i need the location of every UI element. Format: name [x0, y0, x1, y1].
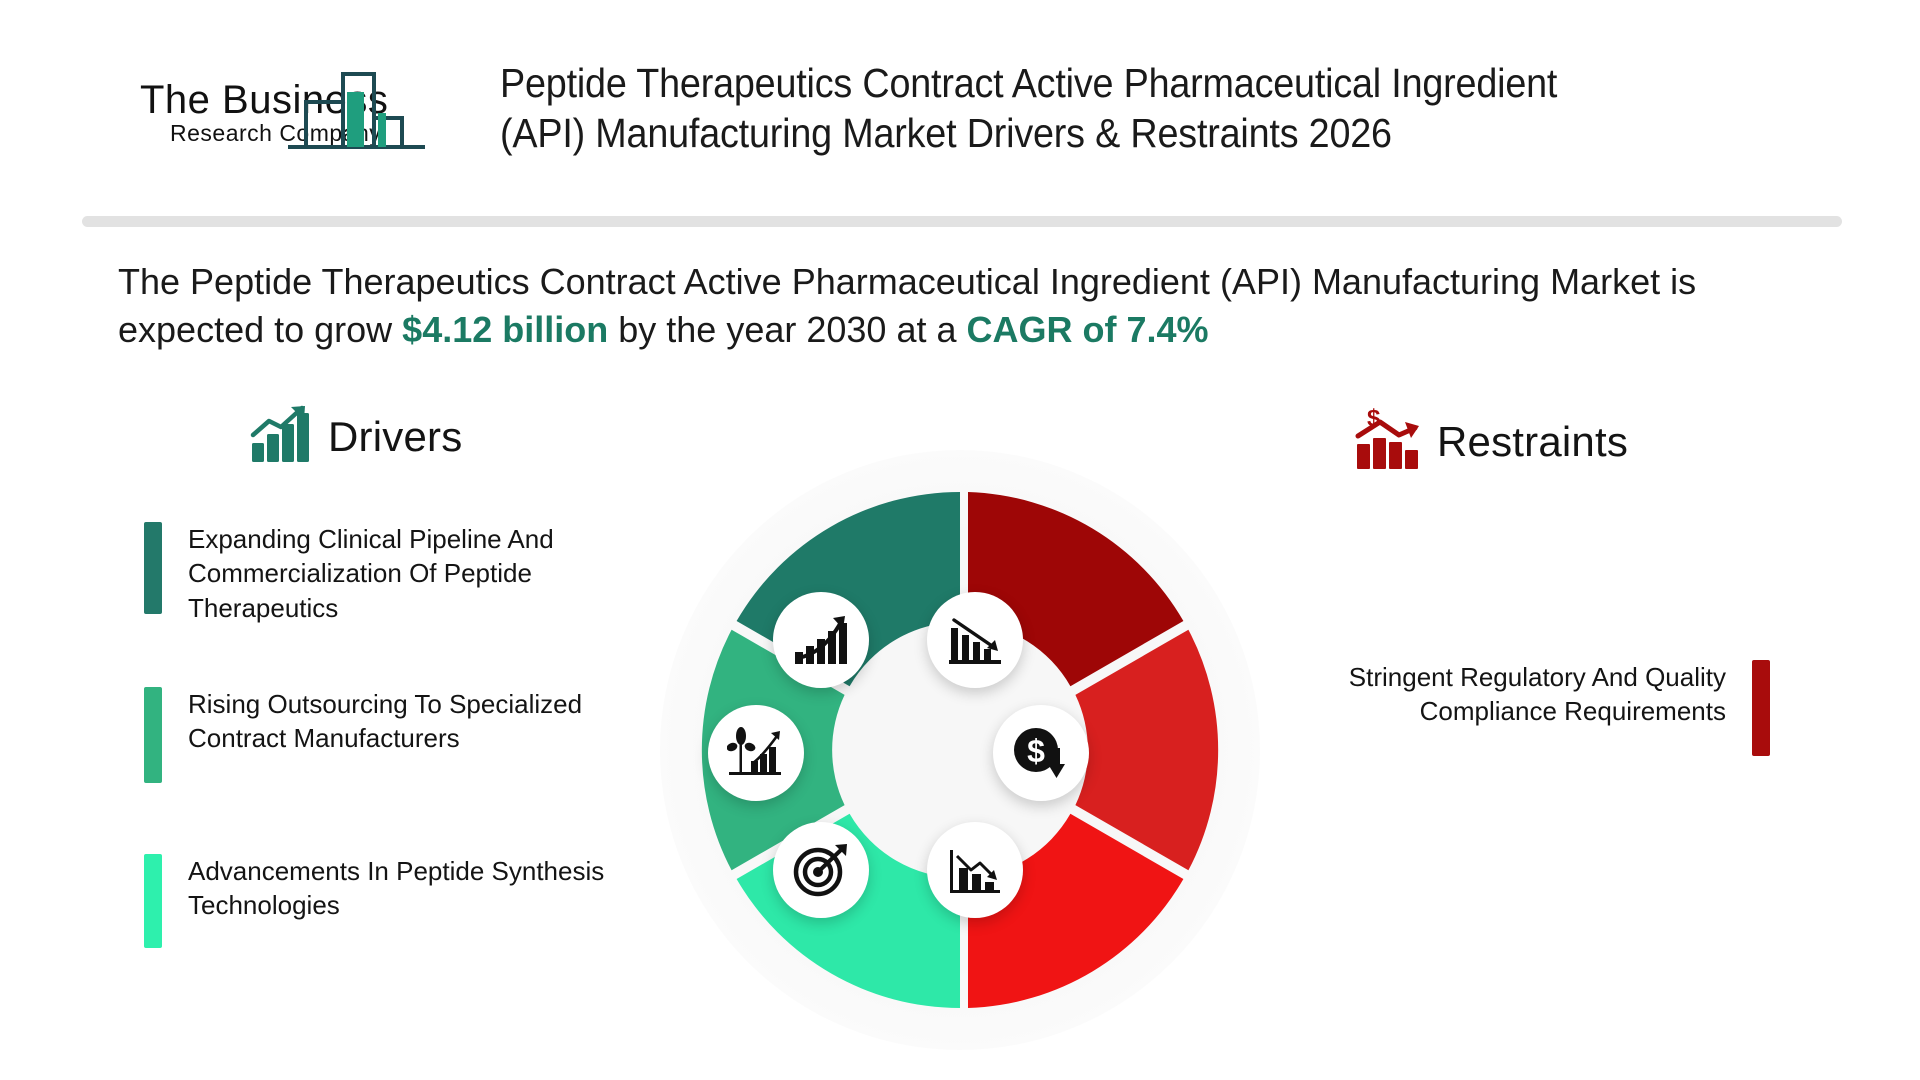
restraints-title: Restraints [1437, 418, 1628, 466]
svg-text:$: $ [1367, 408, 1381, 432]
driver-item-2: Rising Outsourcing To Specialized Contra… [144, 687, 654, 783]
driver-accent-bar-3 [144, 854, 162, 948]
header: The Business Research Company Peptide Th… [0, 0, 1920, 200]
page-title-line-1: Peptide Therapeutics Contract Active Pha… [500, 58, 1751, 108]
plant-growth-chart-icon [727, 727, 785, 779]
falling-bars-arrow-icon [947, 614, 1003, 666]
restraint-accent-bar-1 [1752, 660, 1770, 756]
badge-declining-bars [927, 822, 1023, 918]
restraint-item-1: Stringent Regulatory And Quality Complia… [1260, 660, 1770, 756]
driver-item-1: Expanding Clinical Pipeline And Commerci… [144, 522, 644, 625]
target-bullseye-icon [793, 843, 849, 897]
drivers-title: Drivers [328, 413, 462, 461]
driver-label-1: Expanding Clinical Pipeline And Commerci… [162, 522, 644, 625]
page-title-line-2: (API) Manufacturing Market Drivers & Res… [500, 108, 1751, 158]
title-block: Peptide Therapeutics Contract Active Pha… [500, 58, 1860, 158]
badge-growth-curve [773, 592, 869, 688]
market-value: $4.12 billion [402, 309, 608, 350]
dollar-down-arrow-icon: $ [1013, 726, 1069, 780]
driver-item-3: Advancements In Peptide Synthesis Techno… [144, 854, 664, 948]
rising-bar-chart-icon [250, 405, 312, 468]
infographic-page: The Business Research Company Peptide Th… [0, 0, 1920, 1080]
driver-accent-bar-1 [144, 522, 162, 614]
driver-label-3: Advancements In Peptide Synthesis Techno… [162, 854, 664, 948]
badge-falling-bars [927, 592, 1023, 688]
badge-dollar-down: $ [993, 705, 1089, 801]
declining-bar-chart-icon [947, 844, 1003, 896]
svg-text:$: $ [1027, 733, 1045, 769]
drivers-heading: Drivers [250, 405, 462, 468]
header-divider [82, 216, 1842, 227]
driver-accent-bar-2 [144, 687, 162, 783]
restraint-label-1: Stringent Regulatory And Quality Complia… [1260, 660, 1752, 756]
drivers-restraints-wheel: $ [650, 440, 1270, 1060]
market-summary: The Peptide Therapeutics Contract Active… [118, 258, 1798, 354]
summary-part-2: by the year 2030 at a [608, 309, 966, 350]
badge-target [773, 822, 869, 918]
driver-label-2: Rising Outsourcing To Specialized Contra… [162, 687, 654, 783]
restraints-heading: $ Restraints [1355, 408, 1628, 475]
company-logo: The Business Research Company [140, 55, 480, 165]
badge-plant-growth [708, 705, 804, 801]
cagr-value: CAGR of 7.4% [967, 309, 1209, 350]
falling-bar-chart-dollar-icon: $ [1355, 408, 1421, 475]
growth-curve-bar-chart-icon [793, 614, 849, 666]
